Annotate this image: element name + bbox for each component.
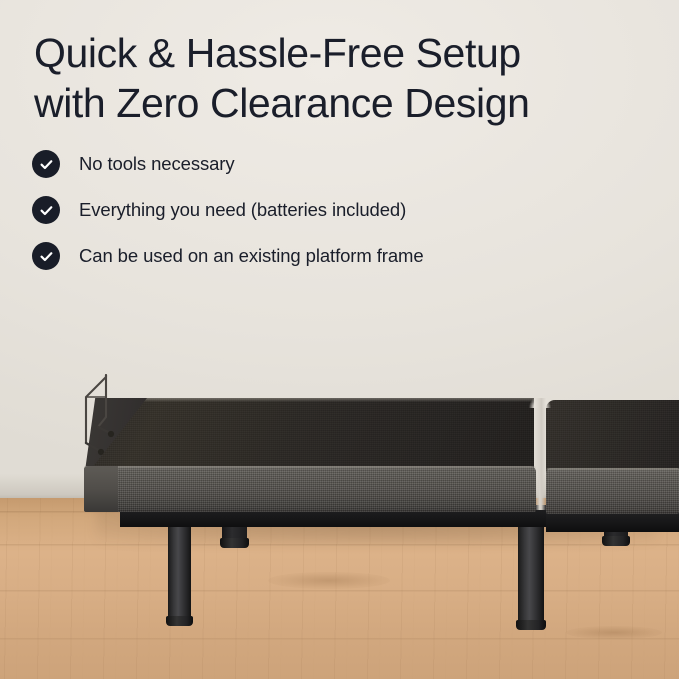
leg-foot — [602, 536, 630, 546]
list-item: Everything you need (batteries included) — [32, 196, 679, 224]
check-circle-icon — [32, 196, 60, 224]
leg-foot — [516, 620, 546, 630]
leg-foot — [166, 616, 193, 626]
deck-fabric-texture — [546, 400, 679, 476]
feature-bullet-list: No tools necessary Everything you need (… — [0, 128, 679, 270]
side-rail-left — [84, 466, 536, 512]
deck-surface-right-section — [546, 400, 679, 476]
bullet-label: Everything you need (batteries included) — [79, 199, 406, 221]
list-item: No tools necessary — [32, 150, 679, 178]
rail-weave-texture — [84, 466, 536, 512]
support-leg-front-right — [518, 516, 544, 624]
check-circle-icon — [32, 242, 60, 270]
section-split-gap — [535, 398, 546, 510]
leg-foot — [220, 538, 249, 548]
rail-edge-highlight — [84, 466, 536, 469]
check-circle-icon — [32, 150, 60, 178]
list-item: Can be used on an existing platform fram… — [32, 242, 679, 270]
rail-edge-highlight — [546, 468, 679, 471]
rail-weave-texture — [546, 468, 679, 514]
side-rail-head-cap — [84, 466, 118, 512]
bullet-label: Can be used on an existing platform fram… — [79, 245, 424, 267]
deck-top-edge-highlight — [84, 398, 534, 402]
bullet-label: No tools necessary — [79, 153, 235, 175]
side-rail-right — [546, 468, 679, 514]
copy-block: Quick & Hassle-Free Setup with Zero Clea… — [0, 0, 679, 288]
support-leg-front-left — [168, 512, 191, 620]
feature-graphic: Quick & Hassle-Free Setup with Zero Clea… — [0, 0, 679, 679]
headline: Quick & Hassle-Free Setup with Zero Clea… — [0, 0, 679, 128]
